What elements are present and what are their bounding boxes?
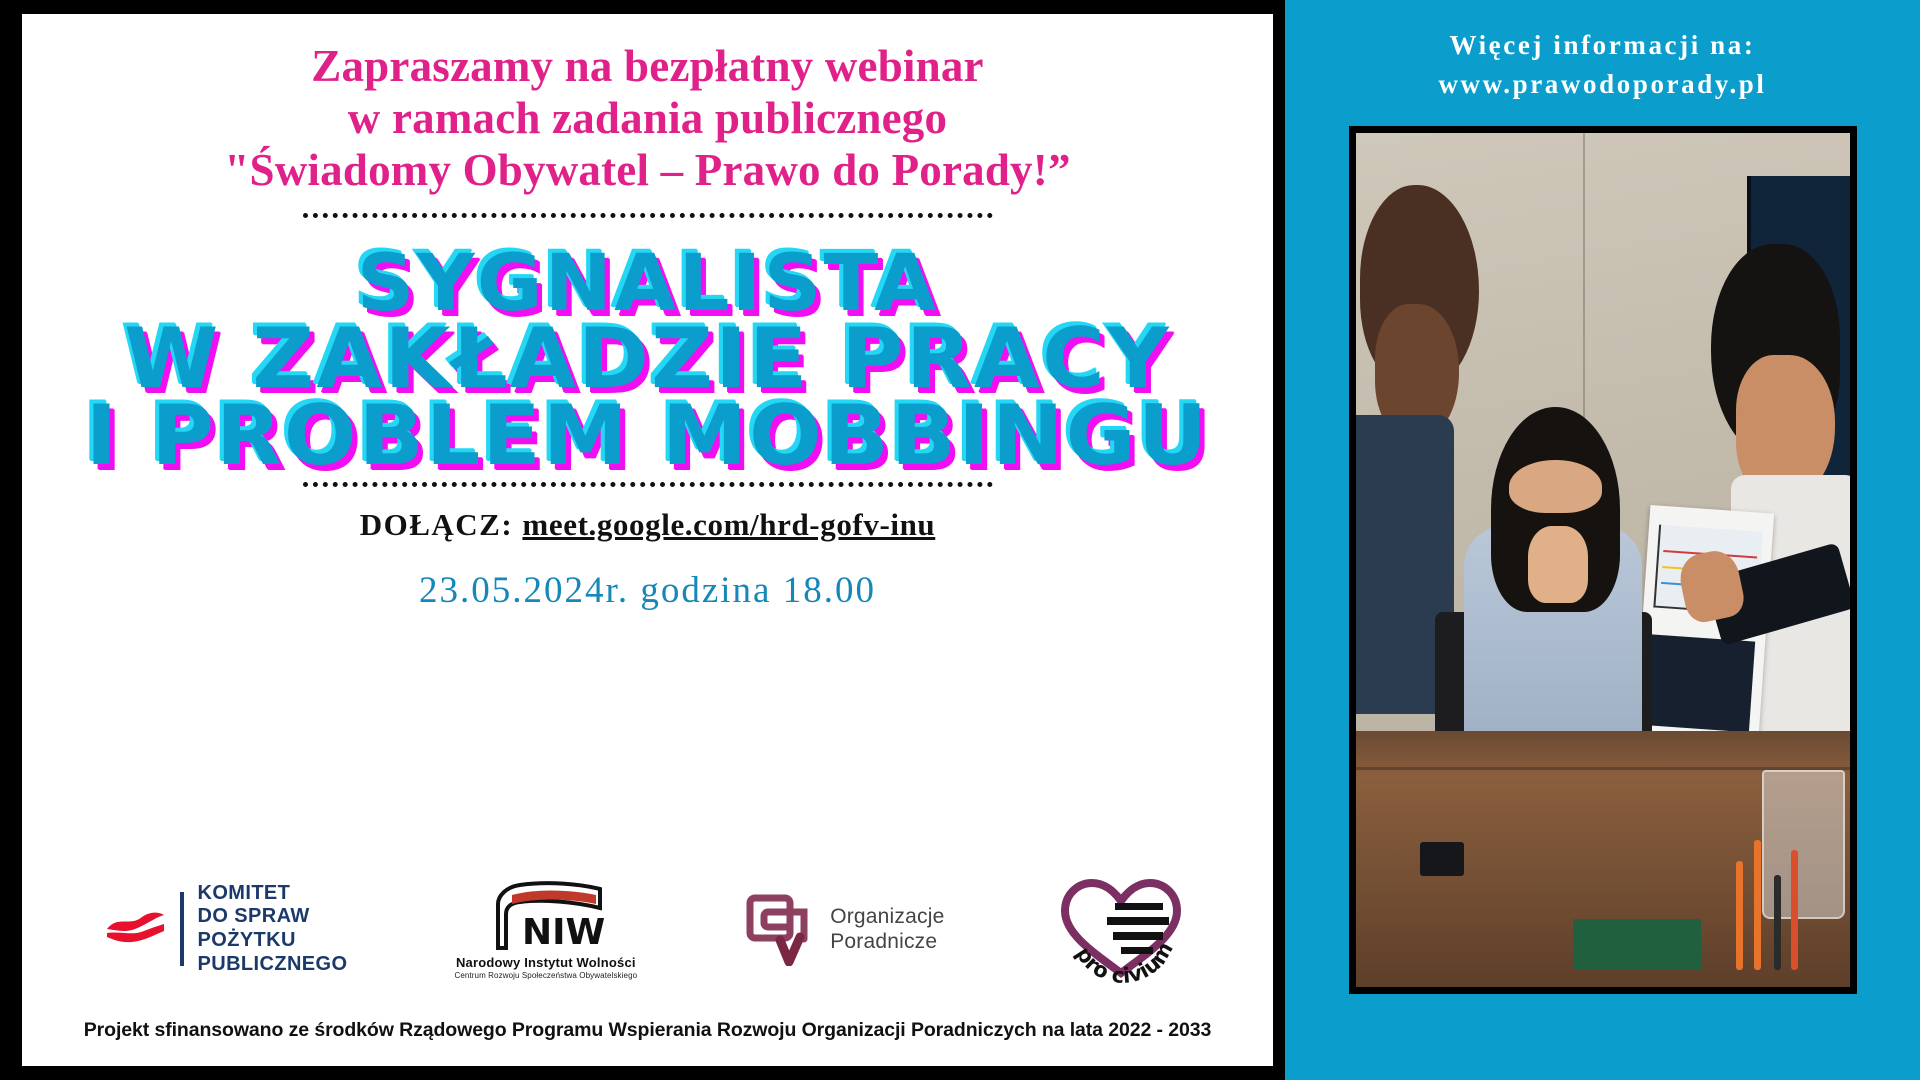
niw-mark-icon: NIW xyxy=(476,878,616,952)
kpp-line-4: PUBLICZNEGO xyxy=(198,953,348,975)
photo-frame xyxy=(1349,126,1857,994)
webinar-title-line-2: W ZAKŁADZIE PRACY xyxy=(86,320,1210,397)
join-label: DOŁĄCZ: xyxy=(360,507,513,542)
left-content-panel: Zapraszamy na bezpłatny webinar w ramach… xyxy=(0,0,1285,1080)
invitation-line-2: w ramach zadania publicznego xyxy=(224,92,1070,144)
photo-pen-holder xyxy=(1731,834,1820,971)
op-text: Organizacje Poradnicze xyxy=(830,904,944,954)
kpp-line-1: KOMITET xyxy=(198,882,291,904)
heart-icon: pro civium xyxy=(1051,867,1191,992)
more-info-block: Więcej informacji na: www.prawodoporady.… xyxy=(1438,26,1766,104)
photo-paper-dark-chart xyxy=(1645,635,1755,733)
right-info-panel: Więcej informacji na: www.prawodoporady.… xyxy=(1285,0,1920,1080)
logo-divider xyxy=(180,892,184,966)
webinar-title-line-3: I PROBLEM MOBBINGU xyxy=(86,397,1210,474)
niw-name: Narodowy Instytut Wolności xyxy=(456,955,636,970)
webinar-title: SYGNALISTA W ZAKŁADZIE PRACY I PROBLEM M… xyxy=(86,248,1210,475)
kpp-line-3: POŻYTKU xyxy=(198,929,296,951)
invitation-line-3: "Świadomy Obywatel – Prawo do Porady!” xyxy=(224,144,1070,196)
workplace-mobbing-photo xyxy=(1356,133,1850,987)
more-info-label: Więcej informacji na: xyxy=(1438,26,1766,65)
logo-pro-civium: pro civium xyxy=(1051,869,1191,989)
photo-woman-hands xyxy=(1528,526,1587,603)
logo-niw: NIW Narodowy Instytut Wolności Centrum R… xyxy=(454,878,637,980)
op-line-2: Poradnicze xyxy=(830,930,937,953)
kpp-text: KOMITET DO SPRAW POŻYTKU PUBLICZNEGO xyxy=(198,882,348,976)
meeting-link[interactable]: meet.google.com/hrd-gofv-inu xyxy=(522,507,935,542)
website-url[interactable]: www.prawodoporady.pl xyxy=(1438,65,1766,104)
photo-book xyxy=(1573,919,1701,970)
invitation-line-1: Zapraszamy na bezpłatny webinar xyxy=(224,40,1070,92)
webinar-title-line-1: SYGNALISTA xyxy=(86,248,1210,321)
op-line-1: Organizacje xyxy=(830,905,944,928)
niw-subtitle: Centrum Rozwoju Społeczeństwa Obywatelsk… xyxy=(454,971,637,980)
invitation-heading: Zapraszamy na bezpłatny webinar w ramach… xyxy=(224,40,1070,197)
event-datetime: 23.05.2024r. godzina 18.00 xyxy=(419,569,876,612)
poster-root: Zapraszamy na bezpłatny webinar w ramach… xyxy=(0,0,1920,1080)
funding-note: Projekt sfinansowano ze środków Rządoweg… xyxy=(22,1019,1273,1042)
photo-phone xyxy=(1420,842,1464,876)
join-line: DOŁĄCZ: meet.google.com/hrd-gofv-inu xyxy=(360,507,936,543)
logo-komitet-do-spraw-pozytku-publicznego: KOMITET DO SPRAW POŻYTKU PUBLICZNEGO xyxy=(104,882,348,976)
kpp-line-2: DO SPRAW xyxy=(198,905,310,927)
left-white-card: Zapraszamy na bezpłatny webinar w ramach… xyxy=(22,14,1273,1066)
speech-bubble-icon xyxy=(744,892,818,966)
logo-organizacje-poradnicze: Organizacje Poradnicze xyxy=(744,892,944,966)
svg-text:NIW: NIW xyxy=(522,912,605,952)
polish-flag-icon xyxy=(104,909,166,949)
sponsor-logos-row: KOMITET DO SPRAW POŻYTKU PUBLICZNEGO NIW xyxy=(22,864,1273,994)
divider-dotted-top xyxy=(303,213,993,218)
